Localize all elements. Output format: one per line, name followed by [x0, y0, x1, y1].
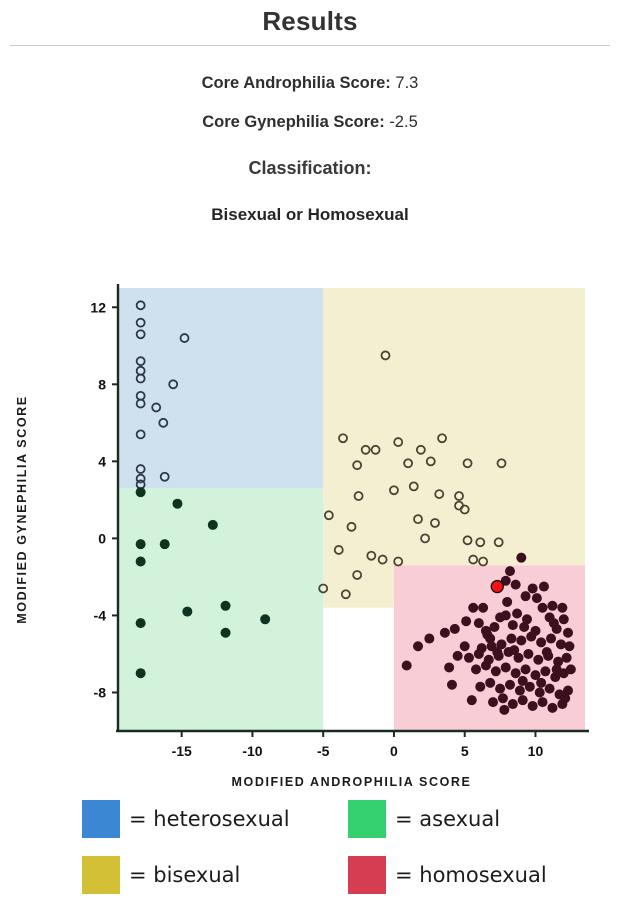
data-point [482, 630, 492, 640]
legend-swatch-heterosexual [82, 800, 120, 838]
data-point [542, 647, 552, 657]
data-point [547, 601, 557, 611]
data-point [502, 597, 512, 607]
data-point [460, 641, 470, 651]
data-point [526, 632, 536, 642]
data-point [464, 653, 474, 663]
data-point [557, 603, 567, 613]
data-point [182, 607, 192, 617]
data-point [402, 661, 412, 671]
page-header: Results [0, 0, 620, 46]
data-point [535, 687, 545, 697]
legend-item-bisexual: = bisexual [40, 856, 310, 894]
data-point [444, 662, 454, 672]
data-point [464, 536, 472, 544]
data-point [489, 622, 499, 632]
data-point [453, 651, 463, 661]
legend-label-homosexual: = homosexual [395, 863, 547, 887]
data-point [136, 618, 146, 628]
data-point [512, 609, 522, 619]
data-point [137, 357, 145, 365]
y-tick-label: -8 [94, 684, 107, 700]
data-point [532, 593, 542, 603]
data-point [325, 511, 333, 519]
gynephilia-score-label: Core Gynephilia Score: [202, 113, 384, 131]
data-point [538, 603, 548, 613]
data-point [518, 695, 528, 705]
legend-swatch-asexual [348, 800, 386, 838]
data-point [559, 614, 569, 624]
data-point [533, 655, 543, 665]
data-point [563, 628, 573, 638]
chart-legend: = heterosexual = asexual = bisexual = ho… [0, 800, 620, 894]
data-point [479, 558, 487, 566]
data-point [367, 552, 375, 560]
bisexual-region [323, 288, 585, 565]
data-point [372, 446, 380, 454]
data-point [181, 334, 189, 342]
data-point [505, 680, 515, 690]
data-point [521, 664, 531, 674]
x-tick-label: 10 [528, 743, 544, 759]
data-point [152, 403, 160, 411]
page-title: Results [0, 0, 620, 45]
data-point [161, 473, 169, 481]
user-score-marker [491, 581, 503, 593]
data-point [467, 695, 477, 705]
data-point [495, 684, 505, 694]
data-point [547, 703, 557, 713]
data-point [545, 684, 555, 694]
androphilia-score-value: 7.3 [395, 74, 418, 92]
data-point [469, 556, 477, 564]
x-axis-title: MODIFIED ANDROPHILIA SCORE [232, 775, 472, 789]
data-point [137, 367, 145, 375]
data-point [506, 634, 516, 644]
data-point [159, 419, 167, 427]
data-point [549, 618, 559, 628]
data-point [485, 678, 495, 688]
data-point [208, 520, 218, 530]
data-point [136, 539, 146, 549]
data-point [172, 499, 182, 509]
data-point [221, 628, 231, 638]
data-point [468, 603, 478, 613]
data-point [413, 641, 423, 651]
data-point [169, 380, 177, 388]
data-point [353, 571, 361, 579]
data-point [137, 330, 145, 338]
data-point [562, 653, 572, 663]
data-point [481, 661, 491, 671]
data-point [536, 637, 546, 647]
y-tick-label: -4 [94, 607, 107, 623]
y-tick-label: 8 [98, 376, 106, 392]
data-point [339, 434, 347, 442]
data-point [461, 616, 471, 626]
data-point [461, 506, 469, 514]
data-point [438, 434, 446, 442]
data-point [136, 557, 146, 567]
data-point [501, 610, 511, 620]
data-point [564, 641, 574, 651]
gynephilia-score-value: -2.5 [389, 113, 417, 131]
series-user-score [491, 581, 503, 593]
data-point [508, 699, 518, 709]
data-point [536, 678, 546, 688]
data-point [540, 666, 550, 676]
data-point [381, 351, 389, 359]
data-point [137, 319, 145, 327]
data-point [137, 375, 145, 383]
data-point [464, 459, 472, 467]
data-point [476, 538, 484, 546]
scatter-chart: -15-10-5051012840-4-8MODIFIED ANDROPHILI… [0, 270, 620, 790]
data-point [414, 515, 422, 523]
scatter-chart-svg: -15-10-5051012840-4-8MODIFIED ANDROPHILI… [0, 270, 620, 790]
data-point [137, 301, 145, 309]
data-point [498, 693, 508, 703]
data-point [394, 438, 402, 446]
data-point [260, 614, 270, 624]
data-point [523, 649, 533, 659]
data-point [136, 487, 146, 497]
data-point [410, 482, 418, 490]
data-point [160, 539, 170, 549]
data-point [556, 639, 566, 649]
data-point [511, 668, 521, 678]
results-summary: Core Androphilia Score: 7.3 Core Gynephi… [0, 46, 620, 225]
legend-swatch-homosexual [348, 856, 386, 894]
data-point [522, 614, 532, 624]
data-point [137, 400, 145, 408]
data-point [505, 566, 515, 576]
legend-label-asexual: = asexual [395, 807, 500, 831]
data-point [342, 590, 350, 598]
data-point [319, 584, 327, 592]
data-point [518, 676, 528, 686]
data-point [478, 603, 488, 613]
data-point [528, 583, 538, 593]
data-point [455, 492, 463, 500]
data-point [538, 697, 548, 707]
data-point [362, 446, 370, 454]
data-point [516, 553, 526, 563]
data-point [515, 686, 525, 696]
data-point [528, 701, 538, 711]
data-point [394, 558, 402, 566]
x-tick-label: -15 [172, 743, 192, 759]
quadrant-regions [118, 288, 585, 731]
data-point [404, 459, 412, 467]
data-point [136, 668, 146, 678]
data-point [440, 628, 450, 638]
data-point [447, 680, 457, 690]
data-point [492, 647, 502, 657]
legend-item-homosexual: = homosexual [310, 856, 580, 894]
data-point [475, 682, 485, 692]
x-tick-label: -5 [317, 743, 330, 759]
x-tick-label: 0 [390, 743, 398, 759]
asexual-region [118, 488, 323, 731]
data-point [516, 635, 526, 645]
data-point [471, 664, 481, 674]
classification-value: Bisexual or Homosexual [0, 179, 620, 225]
data-point [431, 519, 439, 527]
data-point [539, 582, 549, 592]
x-tick-label: 5 [461, 743, 469, 759]
data-point [546, 634, 556, 644]
legend-label-heterosexual: = heterosexual [129, 807, 290, 831]
legend-swatch-bisexual [82, 856, 120, 894]
androphilia-score-line: Core Androphilia Score: 7.3 [0, 64, 620, 103]
legend-item-asexual: = asexual [310, 800, 580, 838]
data-point [566, 664, 576, 674]
data-point [427, 457, 435, 465]
data-point [488, 697, 498, 707]
gynephilia-score-line: Core Gynephilia Score: -2.5 [0, 103, 620, 142]
data-point [335, 546, 343, 554]
data-point [491, 666, 501, 676]
data-point [435, 490, 443, 498]
legend-item-heterosexual: = heterosexual [40, 800, 310, 838]
x-tick-label: -10 [242, 743, 262, 759]
data-point [509, 645, 519, 655]
y-axis-title: MODIFIED GYNEPHILIA SCORE [15, 395, 29, 623]
data-point [521, 591, 531, 601]
data-point [508, 620, 518, 630]
data-point [501, 662, 511, 672]
data-point [353, 461, 361, 469]
data-point [379, 556, 387, 564]
y-tick-label: 4 [98, 453, 106, 469]
data-point [474, 618, 484, 628]
heterosexual-region [118, 288, 323, 488]
data-point [221, 601, 231, 611]
data-point [499, 705, 509, 715]
data-point [421, 534, 429, 542]
legend-label-bisexual: = bisexual [129, 863, 240, 887]
data-point [552, 664, 562, 674]
classification-label: Classification: [0, 142, 620, 179]
data-point [348, 523, 356, 531]
data-point [424, 634, 434, 644]
data-point [390, 486, 398, 494]
data-point [560, 693, 570, 703]
data-point [137, 430, 145, 438]
y-tick-label: 12 [90, 299, 106, 315]
data-point [474, 649, 484, 659]
data-point [450, 624, 460, 634]
data-point [417, 446, 425, 454]
data-point [511, 580, 521, 590]
data-point [137, 465, 145, 473]
y-tick-label: 0 [98, 530, 106, 546]
data-point [495, 538, 503, 546]
data-point [137, 392, 145, 400]
androphilia-score-label: Core Androphilia Score: [202, 74, 391, 92]
data-point [355, 492, 363, 500]
data-point [498, 459, 506, 467]
